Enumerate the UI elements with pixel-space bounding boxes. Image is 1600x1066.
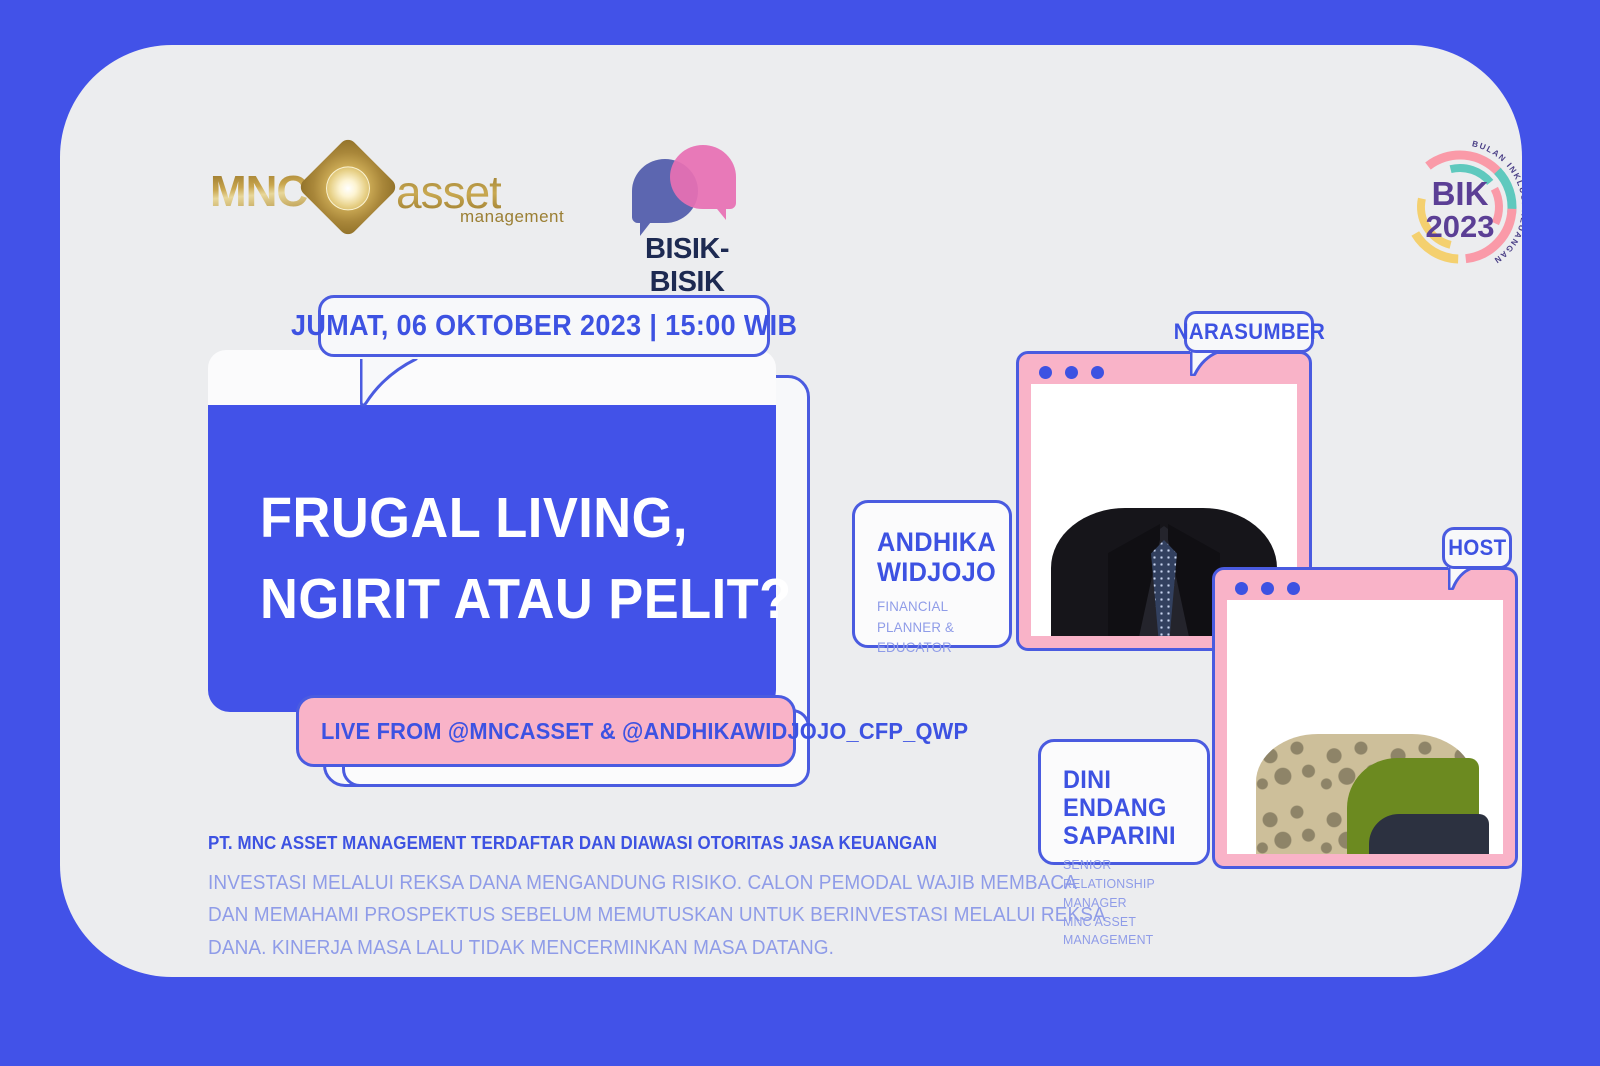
speaker-role-line-1: FINANCIAL PLANNER & bbox=[877, 596, 983, 637]
disclaimer-heading: PT. MNC ASSET MANAGEMENT TERDAFTAR DAN D… bbox=[208, 833, 866, 854]
event-title-line-1: FRUGAL LIVING, bbox=[260, 478, 687, 559]
live-from-banner: LIVE FROM @MNCASSET & @ANDHIKAWIDJOJO_CF… bbox=[296, 695, 796, 767]
speaker-role-line-2: EDUCATOR bbox=[877, 637, 983, 657]
bik-year: 2023 bbox=[1426, 209, 1495, 244]
host-role-line-1: SENIOR RELATIONSHIP MANAGER bbox=[1063, 856, 1181, 913]
host-role-line-2: MNC ASSET MANAGEMENT bbox=[1063, 913, 1181, 951]
event-title-block: FRUGAL LIVING, NGIRIT ATAU PELIT? bbox=[208, 405, 776, 712]
disclaimer-line-2: DAN MEMAHAMI PROSPEKTUS SEBELUM MEMUTUSK… bbox=[208, 899, 873, 931]
bik-2023-logo: BULAN INKLUSI KEUANGAN BIK 2023 bbox=[1390, 137, 1522, 277]
live-from-text: LIVE FROM @MNCASSET & @ANDHIKAWIDJOJO_CF… bbox=[321, 718, 968, 745]
speaker-name-card: ANDHIKA WIDJOJO FINANCIAL PLANNER & EDUC… bbox=[852, 500, 1012, 648]
speech-bubble-pink-icon bbox=[670, 145, 736, 209]
event-title-line-2: NGIRIT ATAU PELIT? bbox=[260, 559, 687, 640]
host-name-line-2: SAPARINI bbox=[1063, 822, 1180, 850]
host-tag-text: HOST bbox=[1448, 535, 1506, 561]
diamond-icon bbox=[297, 136, 399, 238]
speech-bubbles-icon bbox=[630, 145, 750, 227]
disclaimer-line-3: DANA. KINERJA MASA LALU TIDAK MENCERMINK… bbox=[208, 932, 873, 964]
logo-row: MNC asset management BISIK-BISIK Bikin I… bbox=[210, 145, 455, 230]
window-dots-icon bbox=[1235, 582, 1300, 595]
host-tag: HOST bbox=[1442, 527, 1512, 569]
mnc-logo-text: MNC bbox=[210, 167, 307, 217]
title-white-band bbox=[208, 350, 776, 412]
host-name-line-1: DINI ENDANG bbox=[1063, 766, 1180, 822]
bik-acronym: BIK bbox=[1432, 175, 1489, 212]
window-dots-icon bbox=[1039, 366, 1104, 379]
event-date-bubble: JUMAT, 06 OKTOBER 2023 | 15:00 WIB bbox=[318, 295, 770, 357]
host-name-card: DINI ENDANG SAPARINI SENIOR RELATIONSHIP… bbox=[1038, 739, 1210, 865]
host-portrait bbox=[1227, 600, 1503, 854]
bisik-logo-text: BISIK-BISIK bbox=[622, 233, 752, 299]
poster-card: MNC asset management BISIK-BISIK Bikin I… bbox=[60, 45, 1522, 977]
date-bubble-tail bbox=[360, 355, 420, 407]
disclaimer-line-1: INVESTASI MELALUI REKSA DANA MENGANDUNG … bbox=[208, 867, 873, 899]
narasumber-tag-text: NARASUMBER bbox=[1173, 319, 1324, 345]
speaker-name-line-2: WIDJOJO bbox=[877, 557, 982, 587]
poster-root: MNC asset management BISIK-BISIK Bikin I… bbox=[0, 0, 1600, 1066]
mnc-logo-subtitle: management bbox=[460, 207, 564, 227]
disclaimer-body: INVESTASI MELALUI REKSA DANA MENGANDUNG … bbox=[208, 867, 873, 964]
narasumber-tag-tail bbox=[1190, 350, 1220, 376]
event-date-text: JUMAT, 06 OKTOBER 2023 | 15:00 WIB bbox=[291, 310, 797, 343]
speaker-name-line-1: ANDHIKA bbox=[877, 527, 982, 557]
mnc-asset-logo: MNC asset management bbox=[210, 145, 455, 230]
host-photo-window bbox=[1212, 567, 1518, 869]
host-tag-tail bbox=[1448, 566, 1474, 590]
disclaimer-block: PT. MNC ASSET MANAGEMENT TERDAFTAR DAN D… bbox=[208, 833, 908, 964]
narasumber-tag: NARASUMBER bbox=[1184, 311, 1314, 353]
